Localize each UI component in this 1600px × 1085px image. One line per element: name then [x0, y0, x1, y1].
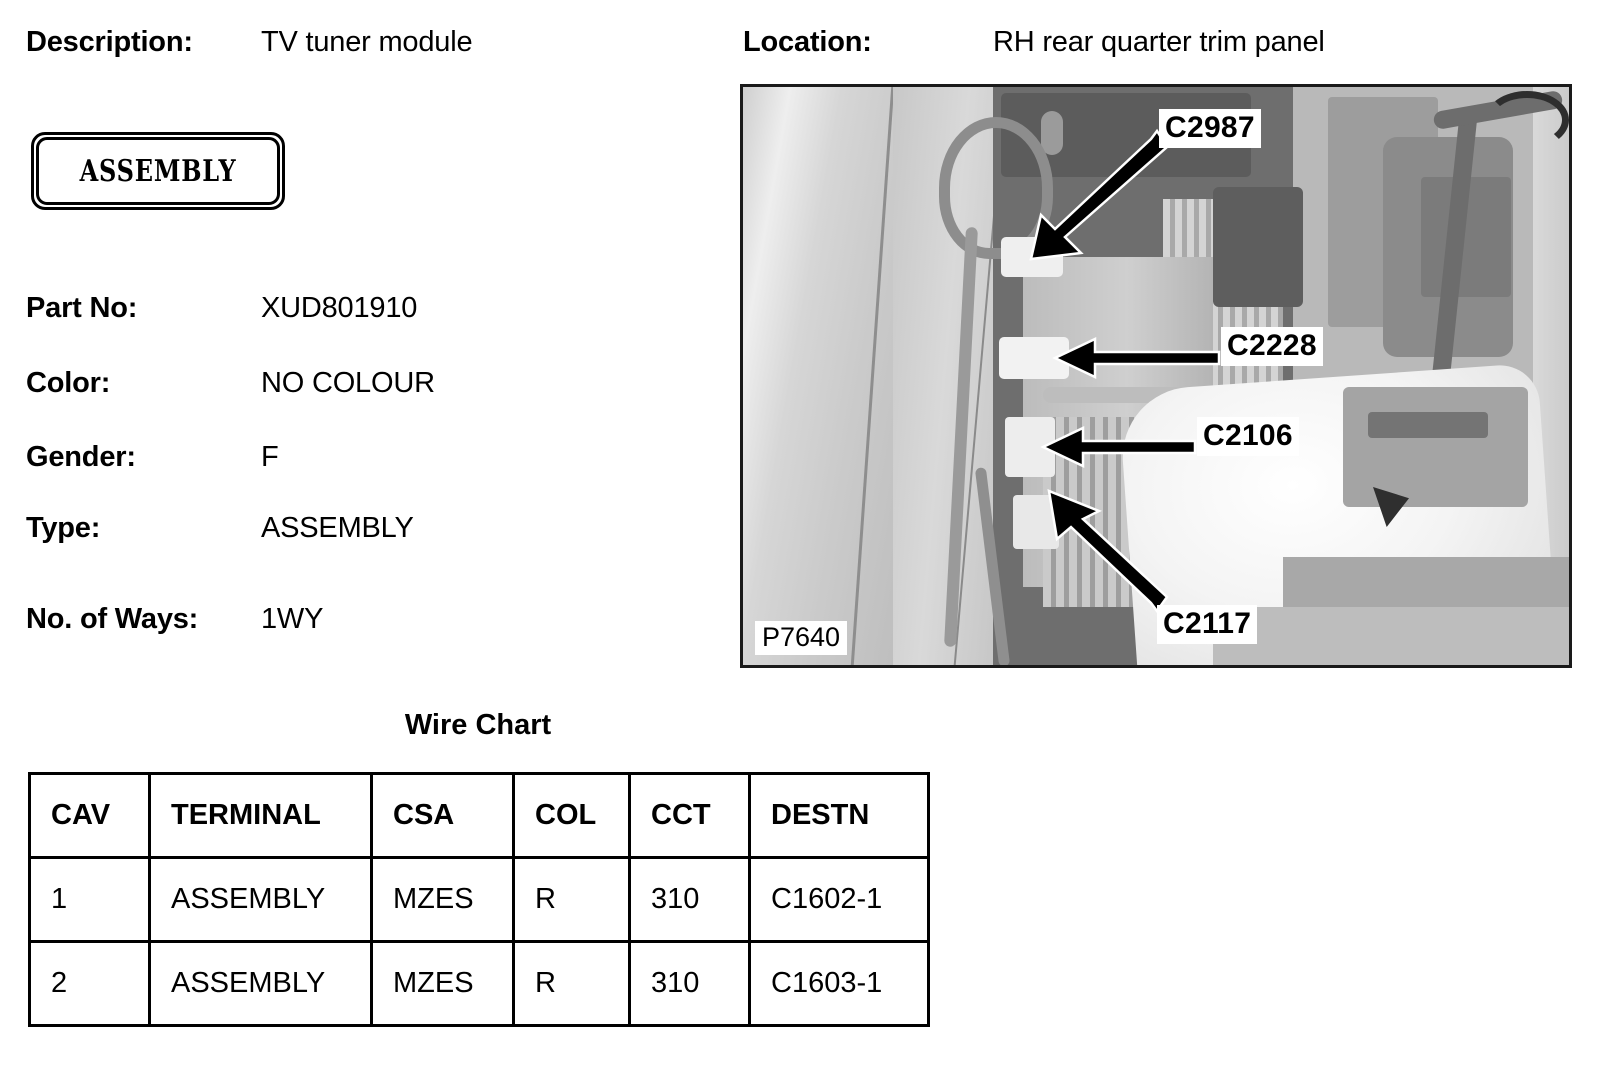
column-header-col: COL — [514, 774, 630, 858]
callout-label-c2106: C2106 — [1197, 417, 1299, 456]
no-of-ways-row: No. of Ways: 1WY — [26, 603, 323, 636]
cell-cav: 2 — [30, 942, 150, 1026]
part-no-row: Part No: XUD801910 — [26, 292, 417, 325]
location-row: Location: RH rear quarter trim panel — [743, 26, 1325, 59]
column-header-csa: CSA — [372, 774, 514, 858]
description-value: TV tuner module — [261, 26, 472, 59]
part-no-label: Part No: — [26, 292, 261, 325]
table-row: 1 ASSEMBLY MZES R 310 C1602-1 — [30, 858, 929, 942]
cell-destn: C1602-1 — [750, 858, 929, 942]
wire-chart-title: Wire Chart — [28, 709, 928, 742]
description-label: Description: — [26, 26, 261, 59]
gender-label: Gender: — [26, 441, 261, 474]
cell-terminal: ASSEMBLY — [150, 942, 372, 1026]
color-label: Color: — [26, 367, 261, 400]
column-header-cav: CAV — [30, 774, 150, 858]
column-header-terminal: TERMINAL — [150, 774, 372, 858]
table-row: 2 ASSEMBLY MZES R 310 C1603-1 — [30, 942, 929, 1026]
cell-cct: 310 — [630, 858, 750, 942]
cell-cct: 310 — [630, 942, 750, 1026]
badge-inner-border: ASSEMBLY — [36, 137, 280, 205]
wire-chart-table: CAV TERMINAL CSA COL CCT DESTN 1 ASSEMBL… — [28, 772, 930, 1027]
callout-label-c2117: C2117 — [1157, 605, 1257, 644]
column-header-destn: DESTN — [750, 774, 929, 858]
cell-col: R — [514, 942, 630, 1026]
callout-label-c2987: C2987 — [1159, 109, 1261, 148]
assembly-badge: ASSEMBLY — [31, 132, 285, 210]
column-header-cct: CCT — [630, 774, 750, 858]
description-row: Description: TV tuner module — [26, 26, 472, 59]
color-value: NO COLOUR — [261, 367, 435, 400]
cell-terminal: ASSEMBLY — [150, 858, 372, 942]
photo-reference-code: P7640 — [755, 621, 847, 655]
no-of-ways-value: 1WY — [261, 603, 323, 636]
type-value: ASSEMBLY — [261, 512, 414, 545]
cell-destn: C1603-1 — [750, 942, 929, 1026]
type-label: Type: — [26, 512, 261, 545]
cell-cav: 1 — [30, 858, 150, 942]
cell-csa: MZES — [372, 942, 514, 1026]
location-label: Location: — [743, 26, 993, 59]
cell-col: R — [514, 858, 630, 942]
type-row: Type: ASSEMBLY — [26, 512, 414, 545]
no-of-ways-label: No. of Ways: — [26, 603, 261, 636]
part-no-value: XUD801910 — [261, 292, 417, 325]
badge-label: ASSEMBLY — [80, 154, 237, 189]
color-row: Color: NO COLOUR — [26, 367, 435, 400]
location-value: RH rear quarter trim panel — [993, 26, 1325, 59]
callout-arrows — [743, 87, 1572, 668]
gender-value: F — [261, 441, 279, 474]
location-photo: C2987 C2228 C2106 C2117 P7640 — [740, 84, 1572, 668]
callout-label-c2228: C2228 — [1221, 327, 1323, 366]
cell-csa: MZES — [372, 858, 514, 942]
gender-row: Gender: F — [26, 441, 279, 474]
table-header-row: CAV TERMINAL CSA COL CCT DESTN — [30, 774, 929, 858]
